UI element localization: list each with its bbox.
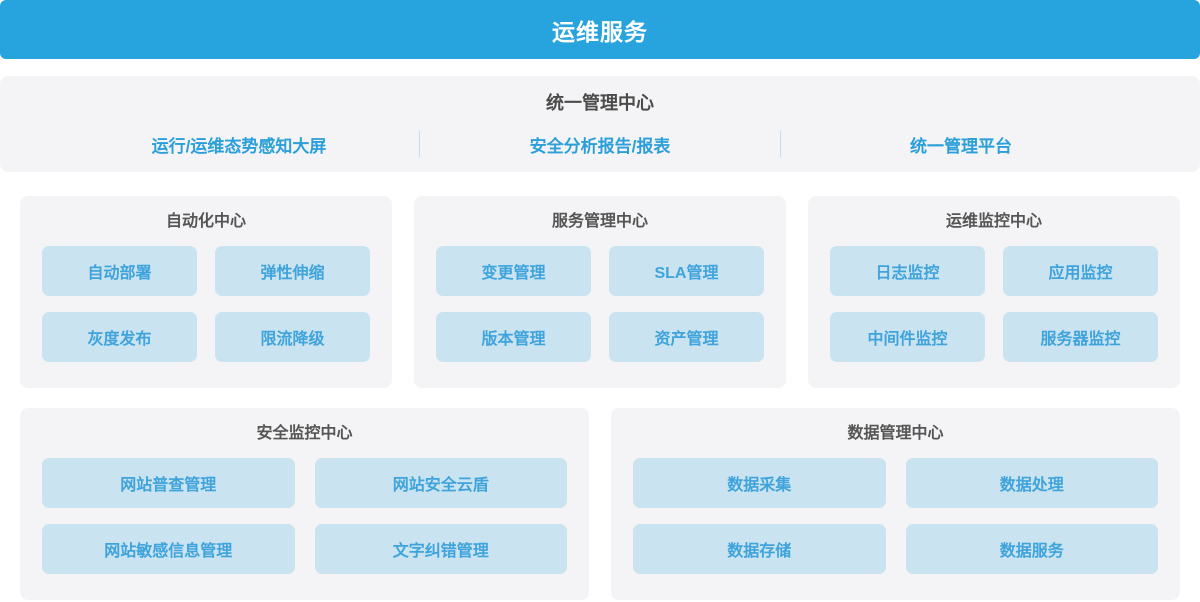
unified-management-center-links: 运行/运维态势感知大屏 安全分析报告/报表 统一管理平台 (0, 130, 1200, 158)
panel-title-data-management-center: 数据管理中心 (633, 420, 1158, 448)
bottom-panel-row: 安全监控中心 网站普查管理 网站安全云盾 网站敏感信息管理 文字纠错管理 数据管… (20, 408, 1180, 600)
tile-grid-service-management-center: 变更管理 SLA管理 版本管理 资产管理 (436, 246, 764, 362)
tile-grid-data-management-center: 数据采集 数据处理 数据存储 数据服务 (633, 458, 1158, 574)
tile-server-monitoring[interactable]: 服务器监控 (1003, 312, 1158, 362)
top-panel-row: 自动化中心 自动部署 弹性伸缩 灰度发布 限流降级 服务管理中心 变更管理 SL… (20, 196, 1180, 388)
tile-log-monitoring[interactable]: 日志监控 (830, 246, 985, 296)
panel-title-service-management-center: 服务管理中心 (436, 208, 764, 236)
page-title: 运维服务 (552, 13, 648, 47)
tile-asset-management[interactable]: 资产管理 (609, 312, 764, 362)
panel-title-automation-center: 自动化中心 (42, 208, 370, 236)
panel-data-management-center: 数据管理中心 数据采集 数据处理 数据存储 数据服务 (611, 408, 1180, 600)
tile-data-collection[interactable]: 数据采集 (633, 458, 886, 508)
header-banner: 运维服务 (0, 0, 1200, 59)
tile-version-management[interactable]: 版本管理 (436, 312, 591, 362)
tile-change-management[interactable]: 变更管理 (436, 246, 591, 296)
mgmt-link-unified-management-platform[interactable]: 统一管理平台 (781, 132, 1141, 157)
panel-security-monitoring-center: 安全监控中心 网站普查管理 网站安全云盾 网站敏感信息管理 文字纠错管理 (20, 408, 589, 600)
tile-application-monitoring[interactable]: 应用监控 (1003, 246, 1158, 296)
tile-sla-management[interactable]: SLA管理 (609, 246, 764, 296)
tile-grid-automation-center: 自动部署 弹性伸缩 灰度发布 限流降级 (42, 246, 370, 362)
panel-title-security-monitoring-center: 安全监控中心 (42, 420, 567, 448)
tile-auto-deploy[interactable]: 自动部署 (42, 246, 197, 296)
tile-website-census-management[interactable]: 网站普查管理 (42, 458, 295, 508)
panel-service-management-center: 服务管理中心 变更管理 SLA管理 版本管理 资产管理 (414, 196, 786, 388)
tile-website-security-cloud-shield[interactable]: 网站安全云盾 (315, 458, 568, 508)
tile-grid-ops-monitoring-center: 日志监控 应用监控 中间件监控 服务器监控 (830, 246, 1158, 362)
mgmt-link-situational-awareness-screen[interactable]: 运行/运维态势感知大屏 (59, 132, 419, 157)
tile-grid-security-monitoring-center: 网站普查管理 网站安全云盾 网站敏感信息管理 文字纠错管理 (42, 458, 567, 574)
unified-management-center-band: 统一管理中心 运行/运维态势感知大屏 安全分析报告/报表 统一管理平台 (0, 76, 1200, 172)
tile-data-processing[interactable]: 数据处理 (906, 458, 1159, 508)
tile-data-service[interactable]: 数据服务 (906, 524, 1159, 574)
tile-text-correction-management[interactable]: 文字纠错管理 (315, 524, 568, 574)
tile-website-sensitive-info-management[interactable]: 网站敏感信息管理 (42, 524, 295, 574)
tile-middleware-monitoring[interactable]: 中间件监控 (830, 312, 985, 362)
mgmt-link-security-analysis-report[interactable]: 安全分析报告/报表 (420, 132, 780, 157)
panel-title-ops-monitoring-center: 运维监控中心 (830, 208, 1158, 236)
tile-rate-limit-degrade[interactable]: 限流降级 (215, 312, 370, 362)
tile-gray-release[interactable]: 灰度发布 (42, 312, 197, 362)
panel-automation-center: 自动化中心 自动部署 弹性伸缩 灰度发布 限流降级 (20, 196, 392, 388)
panel-ops-monitoring-center: 运维监控中心 日志监控 应用监控 中间件监控 服务器监控 (808, 196, 1180, 388)
tile-elastic-scaling[interactable]: 弹性伸缩 (215, 246, 370, 296)
tile-data-storage[interactable]: 数据存储 (633, 524, 886, 574)
unified-management-center-title: 统一管理中心 (0, 90, 1200, 116)
ops-service-architecture-diagram: 运维服务 统一管理中心 运行/运维态势感知大屏 安全分析报告/报表 统一管理平台… (0, 0, 1200, 602)
